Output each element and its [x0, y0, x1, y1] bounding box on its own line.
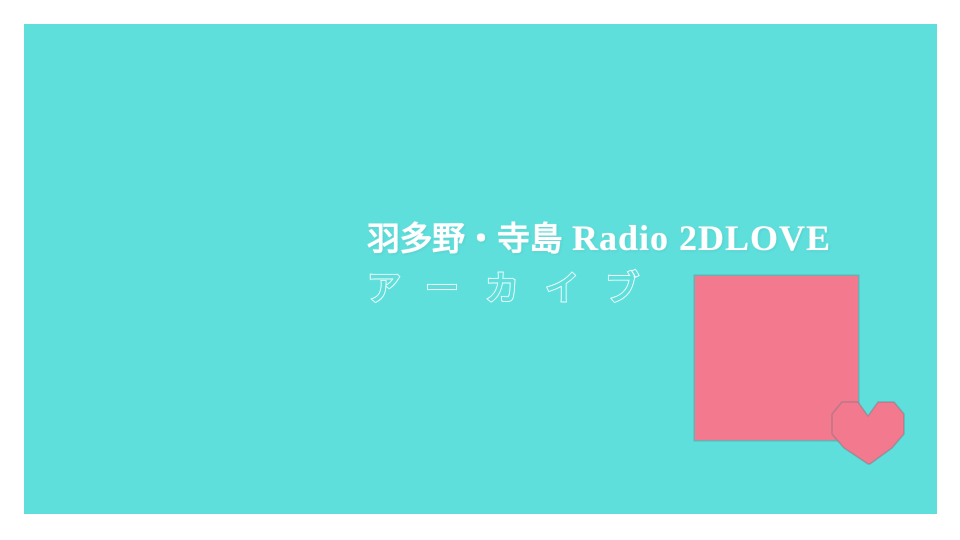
page-title-english: Radio 2DLOVE — [572, 218, 831, 258]
heart-icon — [826, 396, 910, 466]
page-title-separator — [562, 218, 572, 258]
title-card: 羽多野・寺島 Radio 2DLOVE アーカイブ — [0, 0, 960, 540]
page-subtitle: アーカイブ — [367, 266, 927, 312]
page-title-japanese: 羽多野・寺島 — [367, 219, 562, 258]
page-title: 羽多野・寺島 Radio 2DLOVE — [367, 216, 927, 261]
title-block: 羽多野・寺島 Radio 2DLOVE アーカイブ — [367, 216, 927, 312]
pink-heart-decoration — [826, 396, 910, 466]
